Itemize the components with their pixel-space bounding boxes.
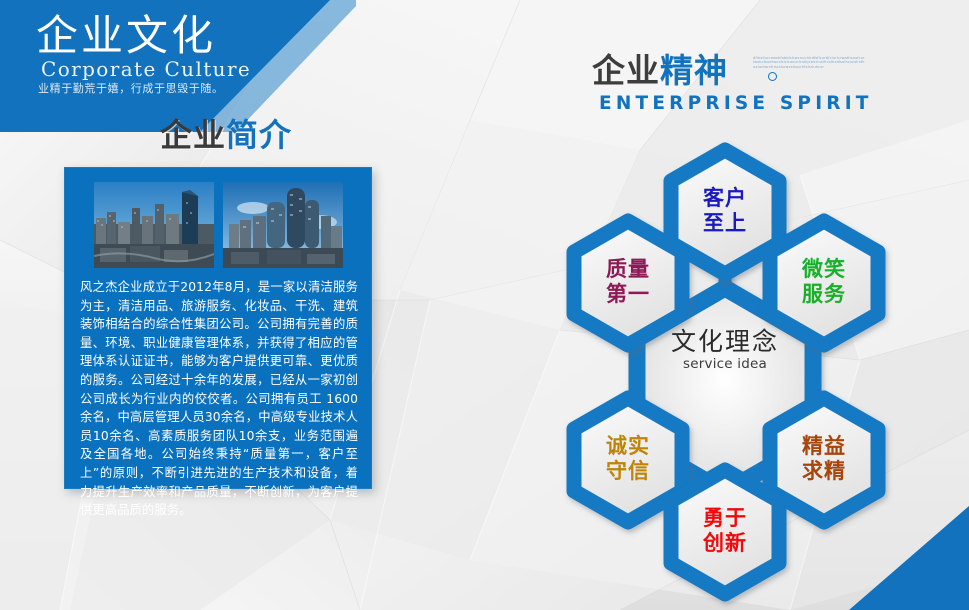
intro-heading: 企业简介: [160, 116, 292, 154]
intro-heading-dark: 企业: [160, 116, 226, 154]
enterprise-spirit-heading: 企业精神 dfihxliucrawshfxbkfclrwcnuchlrdfsfl…: [592, 52, 882, 120]
spirit-heading-en: ENTERPRISE SPIRIT: [599, 93, 873, 115]
spirit-heading-dark: 企业: [592, 51, 660, 90]
company-intro-text: 风之杰企业成立于2012年8月，是一家以清洁服务为主，清洁用品、旅游服务、化妆品…: [80, 278, 358, 520]
banner-title: 企业文化: [36, 13, 216, 59]
culture-hexagon-diagram: 文化理念 service idea 客户 至上 质量 第一 微笑 服务 精益 求…: [480, 110, 969, 610]
banner-subtitle: Corporate Culture: [41, 58, 251, 80]
city-skyline-photo-1: [94, 182, 214, 268]
spirit-heading-blue: 精神: [660, 51, 728, 90]
banner-motto: 业精于勤荒于嬉，行成于思毁于随。: [38, 82, 224, 96]
company-intro-card: 风之杰企业成立于2012年8月，是一家以清洁服务为主，清洁用品、旅游服务、化妆品…: [64, 167, 372, 489]
hex-upper-right-shape: [770, 221, 878, 345]
hex-bottom-shape: [671, 470, 779, 594]
hex-upper-left-shape: [574, 221, 682, 345]
photo-strip: [94, 182, 344, 268]
intro-heading-blue: 简介: [226, 116, 292, 154]
poster-canvas: 企业文化 Corporate Culture 业精于勤荒于嬉，行成于思毁于随。 …: [0, 0, 969, 610]
hexagon-graphics: [480, 110, 969, 610]
spirit-heading-cn: 企业精神: [592, 52, 728, 90]
city-towers-photo-2: [223, 182, 343, 268]
decorative-microtext: dfihxliucrawshfxbkfclrwcnuchlrdfsflcxrtj…: [753, 56, 865, 86]
